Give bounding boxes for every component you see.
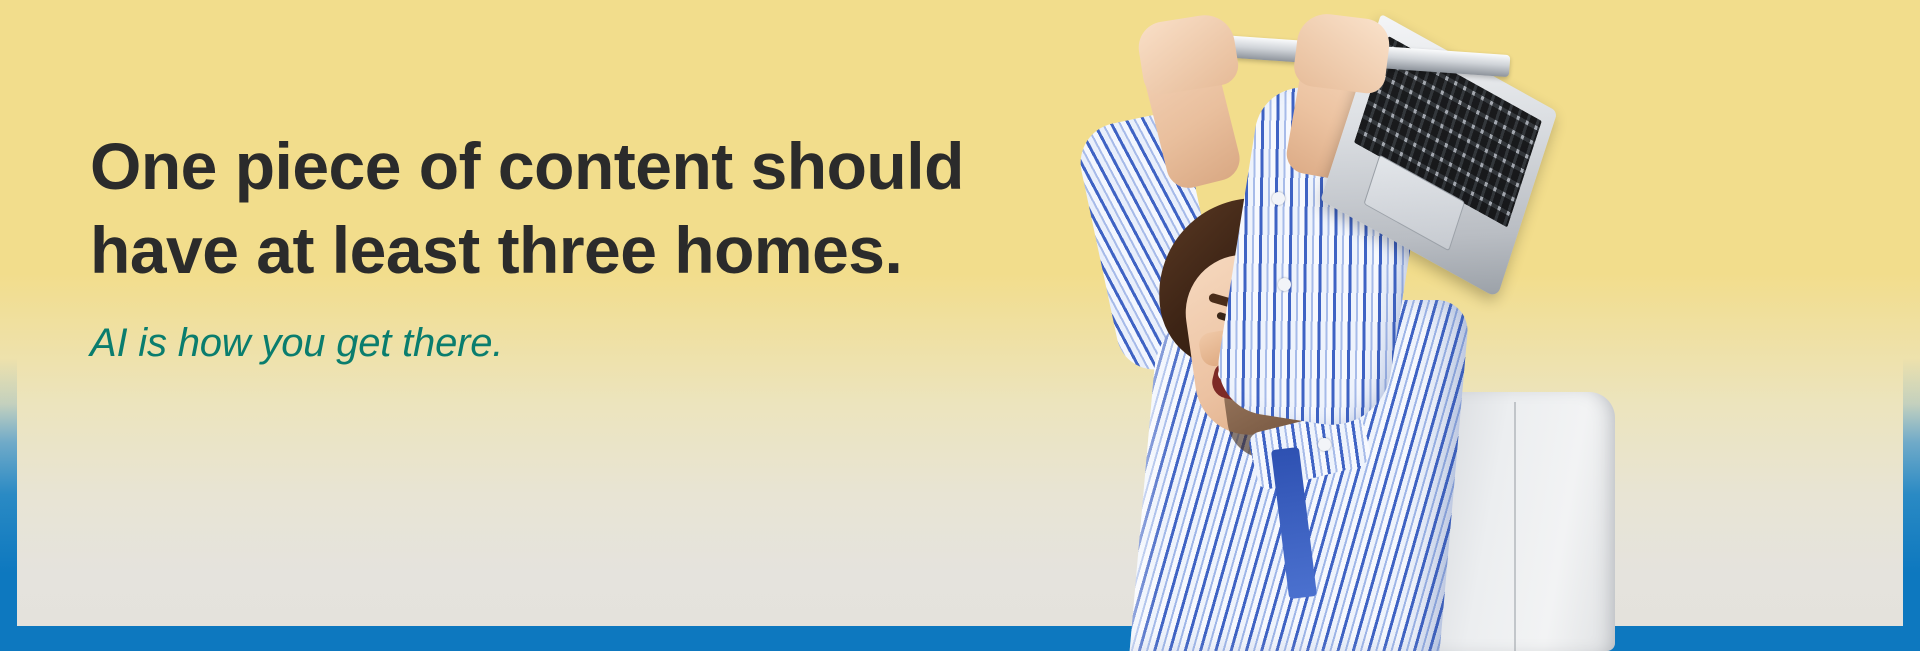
headline: One piece of content should have at leas… (90, 124, 1050, 293)
promo-banner: One piece of content should have at leas… (0, 0, 1920, 651)
accent-strip-left (0, 0, 17, 651)
accent-strip-right (1903, 0, 1920, 651)
accent-bar-bottom (0, 626, 1920, 651)
subheadline: AI is how you get there. (90, 319, 1050, 367)
copy-block: One piece of content should have at leas… (90, 124, 1050, 367)
